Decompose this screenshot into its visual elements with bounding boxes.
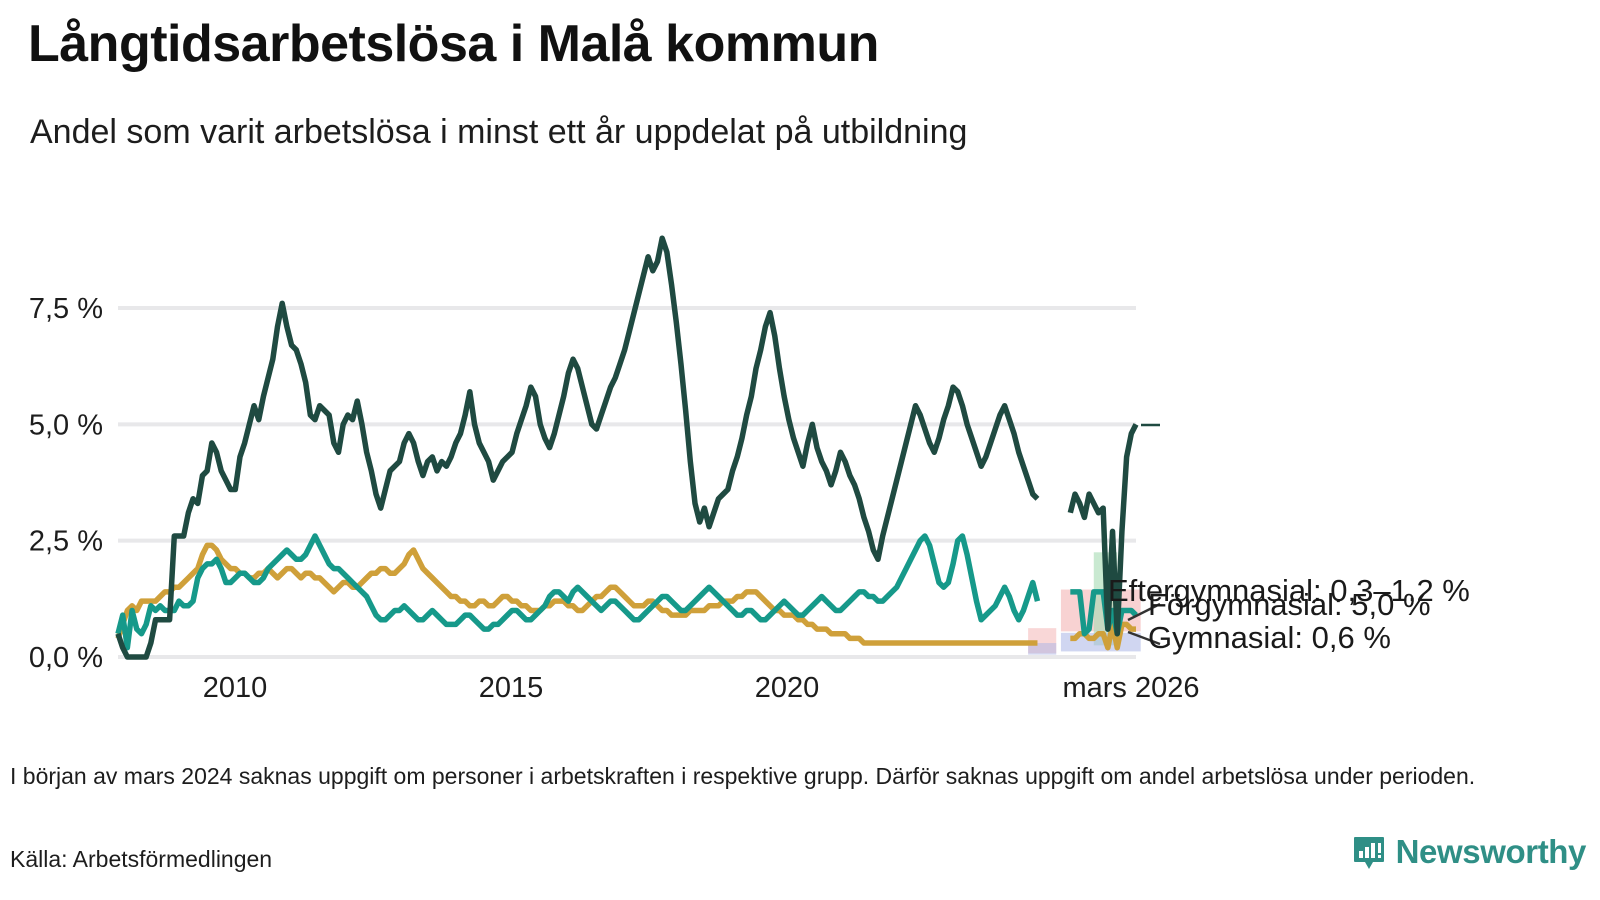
brand-logo: Newsworthy xyxy=(1351,833,1586,871)
page-title: Långtidsarbetslösa i Malå kommun xyxy=(28,14,879,74)
page-subtitle: Andel som varit arbetslösa i minst ett å… xyxy=(30,113,967,152)
series-label-gymnasial: Gymnasial: 0,6 % xyxy=(1148,620,1391,655)
y-tick-label: 0,0 % xyxy=(29,642,103,674)
series-line-gymnasial xyxy=(118,545,1136,647)
y-axis-ticks: 0,0 %2,5 %5,0 %7,5 % xyxy=(29,293,103,674)
series-lines xyxy=(118,238,1136,657)
series-label-eftergymnasial: Eftergymnasial: 0,3–1,2 % xyxy=(1108,573,1470,608)
x-tick-label: 2010 xyxy=(203,672,268,704)
footnote: I början av mars 2024 saknas uppgift om … xyxy=(10,762,1540,791)
y-tick-label: 2,5 % xyxy=(29,526,103,558)
x-tick-label: 2015 xyxy=(479,672,544,704)
y-tick-label: 7,5 % xyxy=(29,293,103,325)
x-tick-label: 2020 xyxy=(755,672,820,704)
line-chart: 0,0 %2,5 %5,0 %7,5 % 201020152020mars 20… xyxy=(0,180,1600,740)
series-line-eftergymnasial xyxy=(118,536,1136,648)
source-note: Källa: Arbetsförmedlingen xyxy=(10,846,272,873)
series-line-förgymnasial xyxy=(118,238,1136,657)
chart-page: Långtidsarbetslösa i Malå kommun Andel s… xyxy=(0,0,1600,900)
x-axis-ticks: 201020152020mars 2026 xyxy=(203,672,1200,704)
chart-container: 0,0 %2,5 %5,0 %7,5 % 201020152020mars 20… xyxy=(0,180,1600,740)
x-tick-label: mars 2026 xyxy=(1062,672,1199,704)
y-tick-label: 5,0 % xyxy=(29,409,103,441)
bar-chart-icon xyxy=(1351,834,1387,870)
brand-name: Newsworthy xyxy=(1396,833,1586,871)
